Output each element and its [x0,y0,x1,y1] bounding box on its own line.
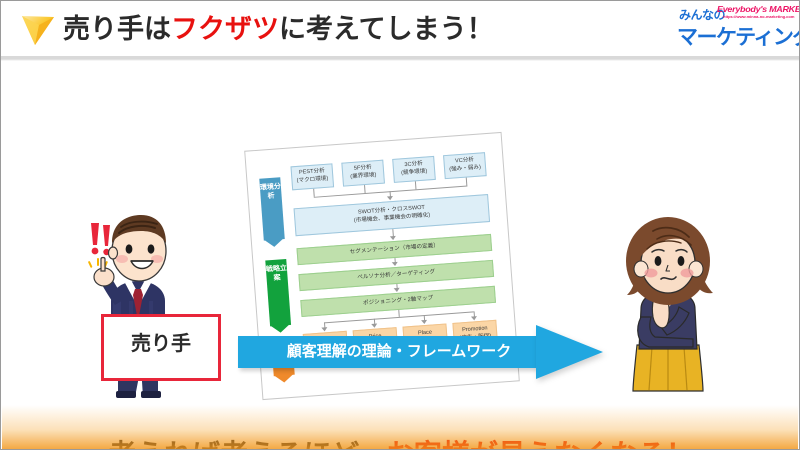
framework-box-5f: 5F分析(業界環境) [341,160,385,187]
logo-en-tagline: Everybody's MARKETING [717,4,800,14]
caption-black-part: 考えれば考えるほど、 [108,439,386,450]
slide-body: 環境分析 戦略立案 施策立案 PEST分析(マクロ環境) 5F分析(業界環境) [1,61,800,450]
bottom-caption: 考えれば考えるほど、お客様が見えなくなる！ [1,433,800,450]
framework-band-strategy: 戦略立案 [265,259,291,326]
framework-box-3c: 3C分析(競争環境) [392,156,436,183]
box-sub: (マクロ環境) [296,176,328,184]
box-sub: (業界環境) [350,172,376,180]
woman-thinking-illustration [597,213,747,403]
play-triangle-icon [19,11,57,49]
slide-header: 売り手はフクザツに考えてしまう！ みんなの Everybody's MARKET… [1,1,800,56]
banner-arrow-head-icon [536,325,603,379]
framework-banner-arrow: 顧客理解の理論・フレームワーク [238,325,603,379]
box-title: VC分析 [455,157,474,164]
page-title-highlight: フクザツ [171,14,279,44]
exclamation-marks-icon [91,223,110,255]
slide-canvas: 売り手はフクザツに考えてしまう！ みんなの Everybody's MARKET… [0,0,800,450]
connector-arrow-icon [392,262,398,266]
box-title: ポジショニング・2軸マップ [363,295,434,308]
box-sub: (強み・弱み) [449,165,481,173]
caption-red-part: お客様が見えなくなる！ [386,439,694,450]
box-title: 5F分析 [354,165,372,172]
box-title: ペルソナ分析／ターゲティング [357,269,435,282]
box-title: 3C分析 [404,161,423,168]
logo-jp-marketing: マーケティング [677,21,793,51]
box-title: PEST分析 [299,168,325,176]
connector [466,178,468,186]
connector [313,189,315,197]
connector-arrow-icon [394,288,400,292]
framework-box-vc: VC分析(強み・弱み) [443,152,487,179]
page-title-prefix: 売り手は [63,14,171,44]
framework-band-environment-label: 環境分析 [260,183,281,200]
logo-url: https://www.minna-no-marketing.com [723,14,794,19]
framework-band-environment: 環境分析 [259,177,284,240]
connector-arrow-icon [421,320,427,324]
framework-box-pest: PEST分析(マクロ環境) [290,163,334,190]
box-title: セグメンテーション（市場の定義） [349,243,439,257]
connector [364,185,366,193]
connector-arrow-icon [471,316,477,320]
seller-sign-label: 売り手 [104,317,218,378]
brand-logo: みんなの Everybody's MARKETING https://www.m… [677,4,793,52]
page-title-suffix: に考えてしまう！ [279,14,494,44]
framework-band-strategy-label: 戦略立案 [266,265,287,282]
connector [415,181,417,189]
page-title: 売り手はフクザツに考えてしまう！ [63,7,494,51]
seller-sign: 売り手 [101,314,221,381]
box-sub: (競争環境) [401,168,427,176]
connector-arrow-icon [390,236,396,240]
connector-arrow-icon [387,196,393,200]
banner-label: 顧客理解の理論・フレームワーク [254,336,544,368]
band-arrow-tip [264,238,285,247]
